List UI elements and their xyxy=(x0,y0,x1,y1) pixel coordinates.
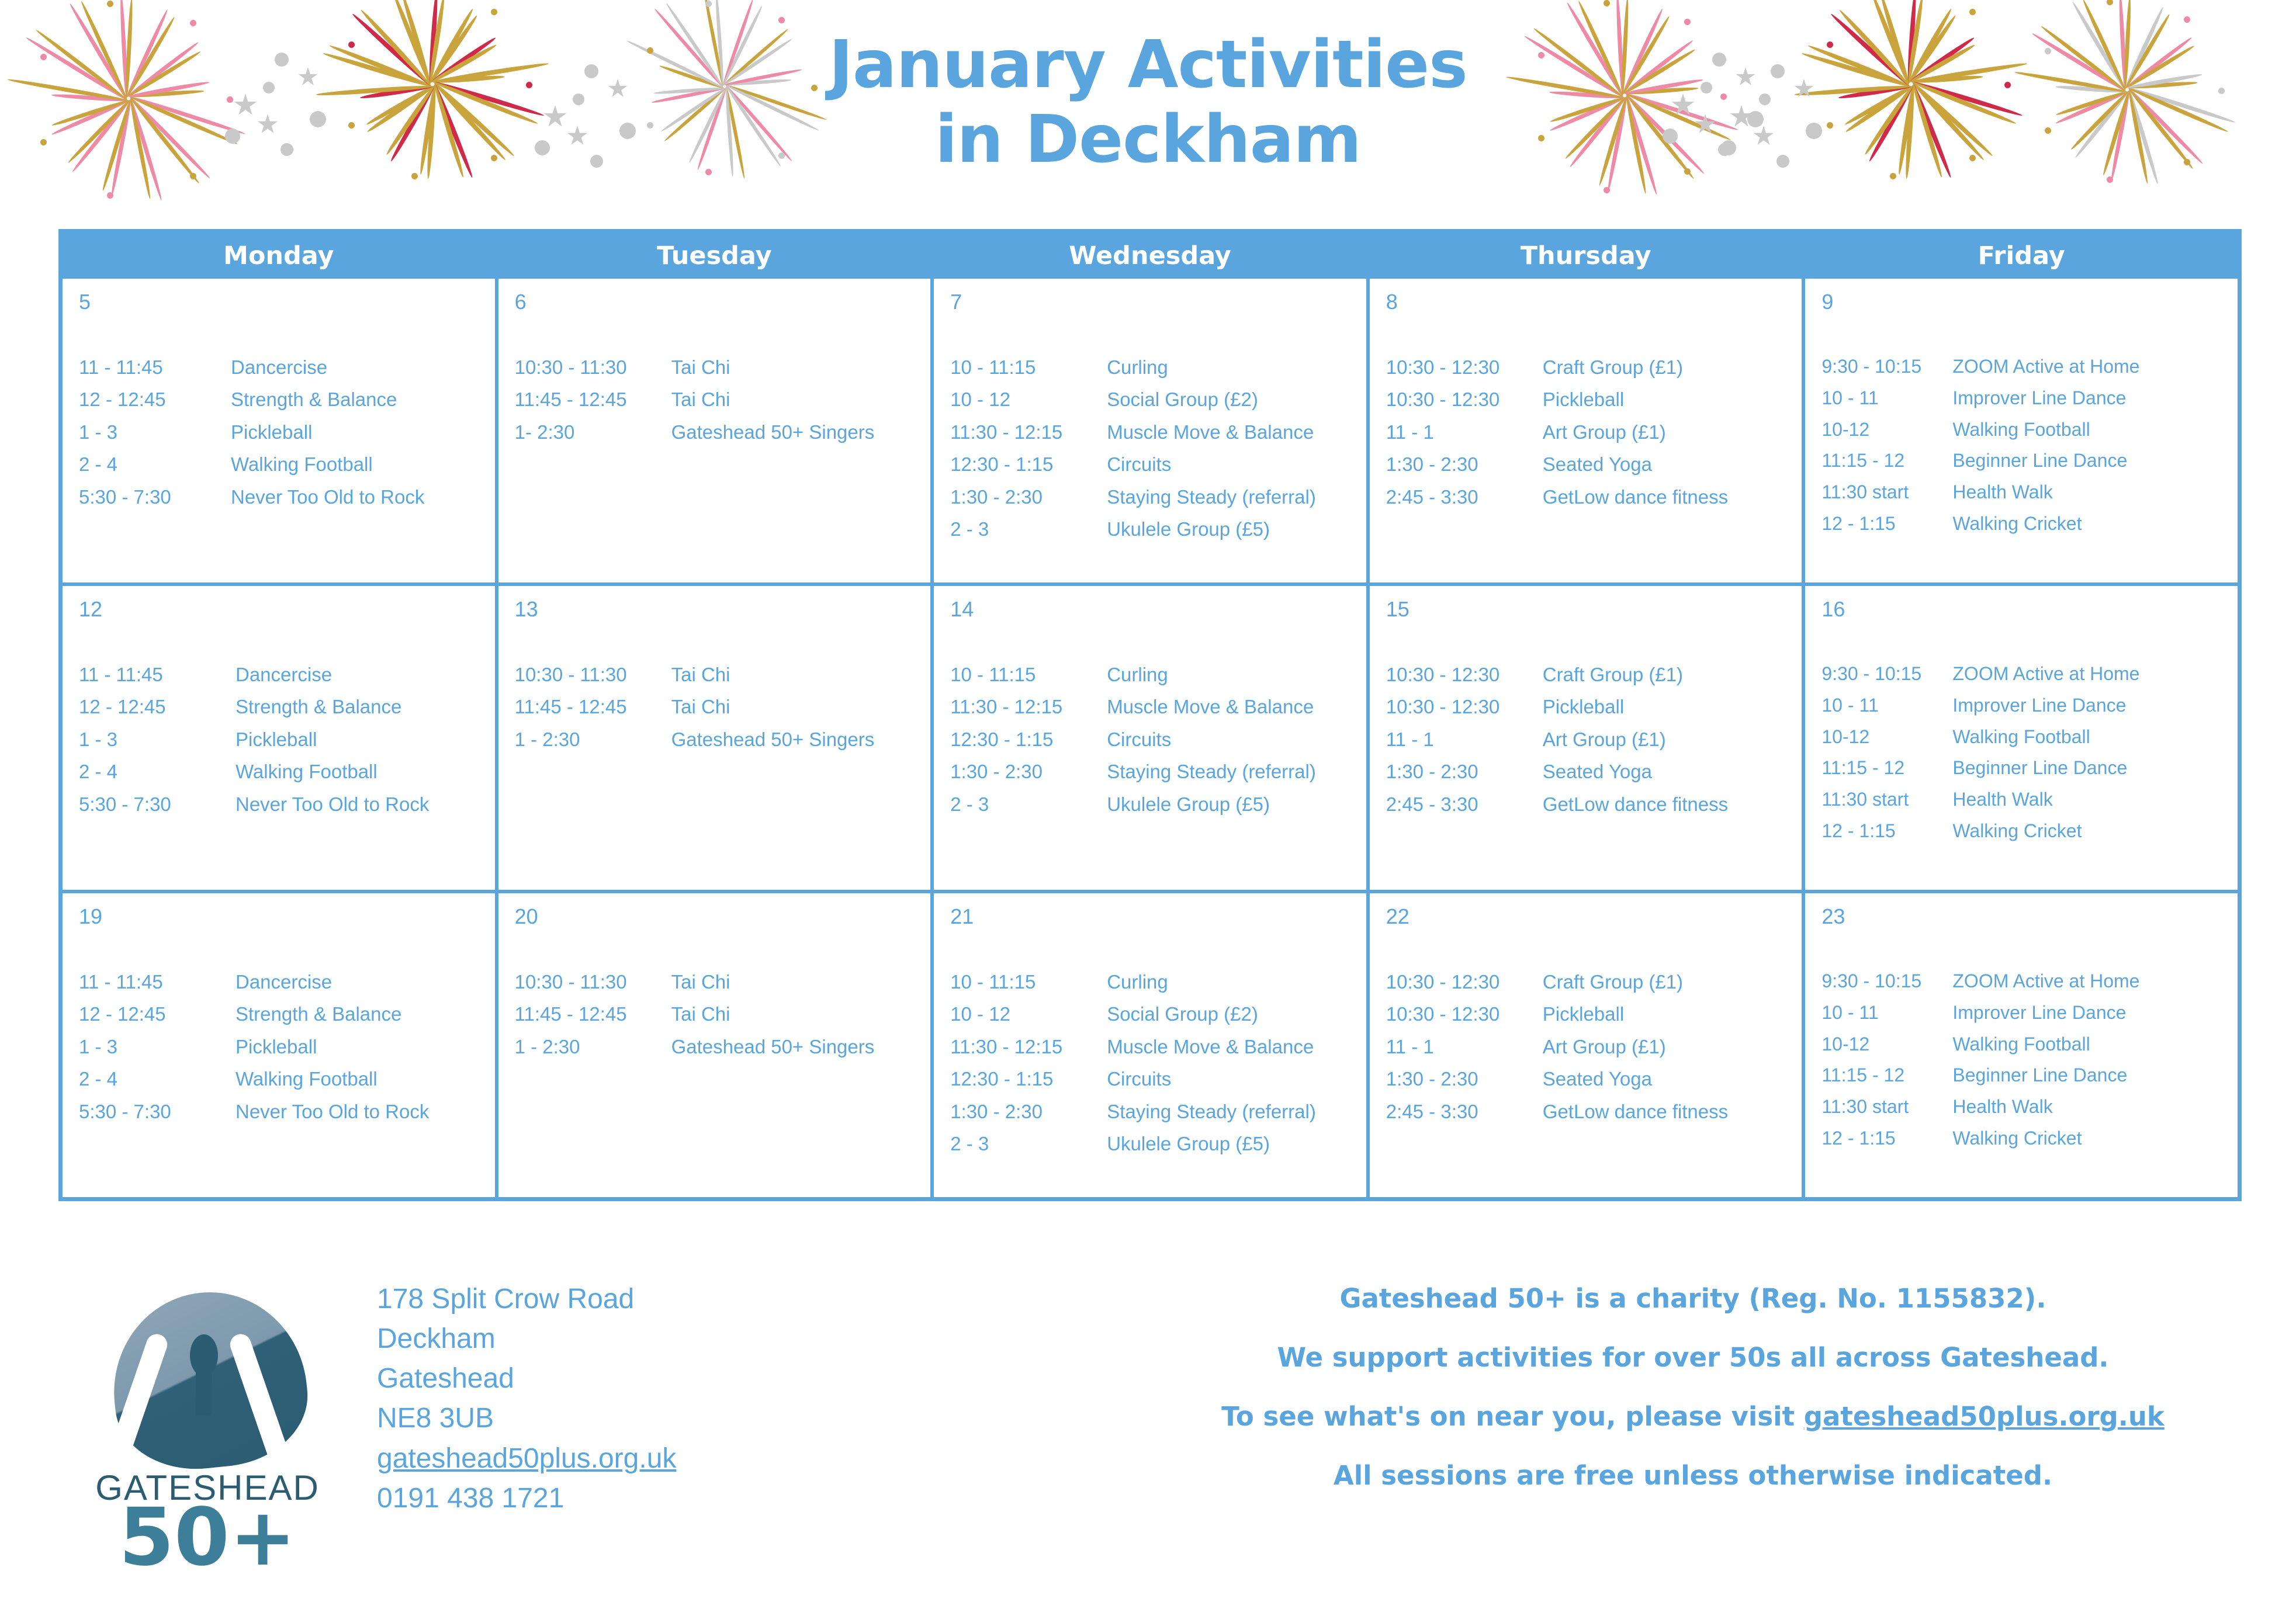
event-time: 10:30 - 11:30 xyxy=(515,658,671,691)
day-cell-16: 169:30 - 10:15ZOOM Active at Home10 - 11… xyxy=(1802,586,2238,890)
event-name: ZOOM Active at Home xyxy=(1952,658,2238,690)
event-name: Strength & Balance xyxy=(236,691,495,723)
event-row: 11:30 startHealth Walk xyxy=(1821,1091,2238,1123)
event-time: 1:30 - 2:30 xyxy=(950,755,1107,788)
day-number: 12 xyxy=(79,599,495,620)
event-name: Craft Group (£1) xyxy=(1543,658,1802,691)
calendar-week-row: 1911 - 11:45Dancercise12 - 12:45Strength… xyxy=(63,890,2238,1197)
event-name: Strength & Balance xyxy=(231,383,495,415)
event-row: 10 - 11Improver Line Dance xyxy=(1821,997,2238,1029)
event-time: 10 - 11:15 xyxy=(950,966,1107,998)
day-number: 7 xyxy=(950,292,1366,313)
firework-spark xyxy=(705,1,712,7)
event-time: 2 - 3 xyxy=(950,513,1107,545)
firework-spark xyxy=(1969,9,1976,15)
day-number: 23 xyxy=(1821,906,2238,927)
event-time: 1:30 - 2:30 xyxy=(1386,755,1543,788)
event-name: Walking Football xyxy=(236,755,495,788)
event-time: 11:15 - 12 xyxy=(1821,445,1952,477)
event-row: 10 - 11Improver Line Dance xyxy=(1821,690,2238,722)
event-row: 11:45 - 12:45Tai Chi xyxy=(515,998,931,1030)
event-time: 12 - 1:15 xyxy=(1821,1123,1952,1154)
event-name: Craft Group (£1) xyxy=(1543,966,1802,998)
event-time: 11:15 - 12 xyxy=(1821,752,1952,784)
day-cell-20: 2010:30 - 11:30Tai Chi11:45 - 12:45Tai C… xyxy=(495,893,931,1197)
event-name: Beginner Line Dance xyxy=(1952,445,2238,477)
event-time: 12:30 - 1:15 xyxy=(950,448,1107,480)
event-row: 1 - 2:30Gateshead 50+ Singers xyxy=(515,723,931,755)
event-row: 11:45 - 12:45Tai Chi xyxy=(515,383,931,415)
event-name: Walking Football xyxy=(1952,1029,2238,1060)
event-time: 12 - 12:45 xyxy=(79,998,236,1030)
event-time: 10:30 - 11:30 xyxy=(515,351,671,383)
day-cell-9: 99:30 - 10:15ZOOM Active at Home10 - 11I… xyxy=(1802,279,2238,582)
firework-spark xyxy=(1604,0,1610,6)
day-cell-22: 2210:30 - 12:30Craft Group (£1)10:30 - 1… xyxy=(1366,893,1802,1197)
page-title-line1: January Activities xyxy=(0,28,2296,103)
website-link[interactable]: gateshead50plus.org.uk xyxy=(377,1439,676,1479)
event-time: 10 - 12 xyxy=(950,383,1107,415)
event-name: Ukulele Group (£5) xyxy=(1107,1128,1366,1160)
event-name: Staying Steady (referral) xyxy=(1107,1095,1366,1128)
event-time: 11 - 1 xyxy=(1386,723,1543,755)
event-row: 2 - 3Ukulele Group (£5) xyxy=(950,788,1366,820)
event-list: 10:30 - 11:30Tai Chi11:45 - 12:45Tai Chi… xyxy=(515,966,931,1063)
charity-visit-prefix: To see what's on near you, please visit xyxy=(1221,1401,1804,1432)
event-row: 2 - 4Walking Football xyxy=(79,448,495,480)
address-area: Deckham xyxy=(377,1319,676,1359)
event-time: 11:30 - 12:15 xyxy=(950,416,1107,448)
event-time: 9:30 - 10:15 xyxy=(1821,966,1952,997)
event-time: 11:30 - 12:15 xyxy=(950,1031,1107,1063)
event-row: 9:30 - 10:15ZOOM Active at Home xyxy=(1821,351,2238,383)
event-time: 1:30 - 2:30 xyxy=(1386,1063,1543,1095)
event-name: Tai Chi xyxy=(671,998,931,1030)
event-time: 10 - 11 xyxy=(1821,997,1952,1029)
event-row: 11 - 11:45Dancercise xyxy=(79,966,495,998)
event-row: 12 - 1:15Walking Cricket xyxy=(1821,1123,2238,1154)
event-time: 11 - 11:45 xyxy=(79,351,231,383)
firework-spark xyxy=(107,192,113,199)
day-header-wednesday: Wednesday xyxy=(930,233,1366,279)
event-time: 11:15 - 12 xyxy=(1821,1060,1952,1091)
event-name: Improver Line Dance xyxy=(1952,383,2238,414)
event-row: 9:30 - 10:15ZOOM Active at Home xyxy=(1821,966,2238,997)
day-number: 13 xyxy=(515,599,931,620)
event-row: 12:30 - 1:15Circuits xyxy=(950,723,1366,755)
event-row: 11 - 1Art Group (£1) xyxy=(1386,416,1802,448)
page-title: January Activities in Deckham xyxy=(0,28,2296,177)
day-cell-23: 239:30 - 10:15ZOOM Active at Home10 - 11… xyxy=(1802,893,2238,1197)
event-time: 2 - 3 xyxy=(950,1128,1107,1160)
event-time: 1 - 2:30 xyxy=(515,723,671,755)
event-time: 1 - 3 xyxy=(79,1031,236,1063)
event-name: Gateshead 50+ Singers xyxy=(671,1031,931,1063)
event-time: 1 - 3 xyxy=(79,723,236,755)
day-cell-7: 710 - 11:15Curling10 - 12Social Group (£… xyxy=(930,279,1366,582)
event-time: 11:45 - 12:45 xyxy=(515,383,671,415)
event-name: Walking Football xyxy=(236,1063,495,1095)
event-row: 1:30 - 2:30Seated Yoga xyxy=(1386,755,1802,788)
event-row: 1 - 2:30Gateshead 50+ Singers xyxy=(515,1031,931,1063)
event-name: Health Walk xyxy=(1952,784,2238,816)
day-number: 15 xyxy=(1386,599,1802,620)
event-time: 5:30 - 7:30 xyxy=(79,1095,236,1128)
day-header-tuesday: Tuesday xyxy=(495,233,931,279)
event-row: 11:30 - 12:15Muscle Move & Balance xyxy=(950,691,1366,723)
event-list: 9:30 - 10:15ZOOM Active at Home10 - 11Im… xyxy=(1821,966,2238,1154)
event-list: 11 - 11:45Dancercise12 - 12:45Strength &… xyxy=(79,658,495,820)
event-name: Circuits xyxy=(1107,723,1366,755)
event-name: Strength & Balance xyxy=(236,998,495,1030)
day-cell-5: 511 - 11:45Dancercise12 - 12:45Strength … xyxy=(63,279,495,582)
event-row: 11:30 startHealth Walk xyxy=(1821,784,2238,816)
event-time: 9:30 - 10:15 xyxy=(1821,351,1952,383)
event-name: Pickleball xyxy=(1543,383,1802,415)
firework-spark xyxy=(2107,0,2113,5)
event-name: Beginner Line Dance xyxy=(1952,1060,2238,1091)
contact-address: 178 Split Crow Road Deckham Gateshead NE… xyxy=(377,1279,676,1518)
event-time: 11 - 1 xyxy=(1386,1031,1543,1063)
event-name: Pickleball xyxy=(236,723,495,755)
firework-spark xyxy=(778,17,785,23)
event-name: ZOOM Active at Home xyxy=(1952,966,2238,997)
day-cell-14: 1410 - 11:15Curling11:30 - 12:15Muscle M… xyxy=(930,586,1366,890)
event-name: Art Group (£1) xyxy=(1543,416,1802,448)
firework-spark xyxy=(2184,16,2190,23)
event-name: Circuits xyxy=(1107,1063,1366,1095)
event-time: 10 - 12 xyxy=(950,998,1107,1030)
day-cell-19: 1911 - 11:45Dancercise12 - 12:45Strength… xyxy=(63,893,495,1197)
event-row: 11:30 - 12:15Muscle Move & Balance xyxy=(950,1031,1366,1063)
event-row: 12 - 12:45Strength & Balance xyxy=(79,691,495,723)
event-name: Never Too Old to Rock xyxy=(231,481,495,513)
event-time: 12 - 1:15 xyxy=(1821,816,1952,847)
event-row: 11 - 1Art Group (£1) xyxy=(1386,1031,1802,1063)
event-name: Walking Football xyxy=(1952,722,2238,753)
event-name: Dancercise xyxy=(236,658,495,691)
event-row: 10 - 12Social Group (£2) xyxy=(950,998,1366,1030)
event-time: 11 - 1 xyxy=(1386,416,1543,448)
address-street: 178 Split Crow Road xyxy=(377,1279,676,1319)
event-list: 10:30 - 12:30Craft Group (£1)10:30 - 12:… xyxy=(1386,351,1802,513)
event-name: Walking Football xyxy=(231,448,495,480)
event-row: 12 - 12:45Strength & Balance xyxy=(79,383,495,415)
event-name: Health Walk xyxy=(1952,1091,2238,1123)
event-list: 10:30 - 11:30Tai Chi11:45 - 12:45Tai Chi… xyxy=(515,658,931,755)
day-number: 21 xyxy=(950,906,1366,927)
event-row: 10:30 - 11:30Tai Chi xyxy=(515,658,931,691)
event-name: Staying Steady (referral) xyxy=(1107,481,1366,513)
event-name: Muscle Move & Balance xyxy=(1107,1031,1366,1063)
day-cell-8: 810:30 - 12:30Craft Group (£1)10:30 - 12… xyxy=(1366,279,1802,582)
firework-spark xyxy=(491,9,497,15)
day-number: 22 xyxy=(1386,906,1802,927)
event-time: 1 - 2:30 xyxy=(515,1031,671,1063)
day-cell-21: 2110 - 11:15Curling10 - 12Social Group (… xyxy=(930,893,1366,1197)
event-row: 10-12Walking Football xyxy=(1821,414,2238,446)
event-name: Never Too Old to Rock xyxy=(236,1095,495,1128)
event-row: 11:15 - 12Beginner Line Dance xyxy=(1821,752,2238,784)
day-cell-12: 1211 - 11:45Dancercise12 - 12:45Strength… xyxy=(63,586,495,890)
event-time: 10:30 - 12:30 xyxy=(1386,351,1543,383)
event-row: 10 - 11:15Curling xyxy=(950,658,1366,691)
event-name: Tai Chi xyxy=(671,383,931,415)
event-time: 2:45 - 3:30 xyxy=(1386,788,1543,820)
event-row: 1:30 - 2:30Seated Yoga xyxy=(1386,448,1802,480)
event-time: 9:30 - 10:15 xyxy=(1821,658,1952,690)
event-name: Art Group (£1) xyxy=(1543,1031,1802,1063)
event-row: 2 - 3Ukulele Group (£5) xyxy=(950,513,1366,545)
event-name: Walking Football xyxy=(1952,414,2238,446)
event-name: Dancercise xyxy=(236,966,495,998)
event-time: 11:30 start xyxy=(1821,784,1952,816)
event-name: ZOOM Active at Home xyxy=(1952,351,2238,383)
event-row: 1:30 - 2:30Seated Yoga xyxy=(1386,1063,1802,1095)
event-name: Curling xyxy=(1107,658,1366,691)
charity-visit-statement: To see what's on near you, please visit … xyxy=(1144,1403,2242,1430)
event-name: Gateshead 50+ Singers xyxy=(671,416,931,448)
event-name: Tai Chi xyxy=(671,658,931,691)
activities-calendar: Monday Tuesday Wednesday Thursday Friday… xyxy=(58,229,2242,1201)
event-row: 10:30 - 12:30Craft Group (£1) xyxy=(1386,966,1802,998)
charity-support-statement: We support activities for over 50s all a… xyxy=(1144,1344,2242,1371)
event-row: 2 - 4Walking Football xyxy=(79,1063,495,1095)
event-time: 2 - 4 xyxy=(79,448,231,480)
event-row: 1 - 3Pickleball xyxy=(79,416,495,448)
event-name: Walking Cricket xyxy=(1952,816,2238,847)
event-name: Beginner Line Dance xyxy=(1952,752,2238,784)
event-list: 9:30 - 10:15ZOOM Active at Home10 - 11Im… xyxy=(1821,658,2238,847)
calendar-week-row: 511 - 11:45Dancercise12 - 12:45Strength … xyxy=(63,279,2238,582)
event-time: 1:30 - 2:30 xyxy=(950,1095,1107,1128)
event-time: 10:30 - 12:30 xyxy=(1386,691,1543,723)
event-row: 1 - 3Pickleball xyxy=(79,723,495,755)
event-time: 2:45 - 3:30 xyxy=(1386,1095,1543,1128)
event-row: 5:30 - 7:30Never Too Old to Rock xyxy=(79,788,495,820)
event-name: Improver Line Dance xyxy=(1952,690,2238,722)
event-row: 11:15 - 12Beginner Line Dance xyxy=(1821,445,2238,477)
event-row: 11 - 11:45Dancercise xyxy=(79,658,495,691)
event-time: 10 - 11 xyxy=(1821,690,1952,722)
day-number: 19 xyxy=(79,906,495,927)
event-list: 11 - 11:45Dancercise12 - 12:45Strength &… xyxy=(79,351,495,513)
event-row: 2 - 4Walking Football xyxy=(79,755,495,788)
day-header-monday: Monday xyxy=(63,233,495,279)
event-row: 1 - 3Pickleball xyxy=(79,1031,495,1063)
calendar-header-row: Monday Tuesday Wednesday Thursday Friday xyxy=(63,233,2238,279)
event-name: GetLow dance fitness xyxy=(1543,481,1802,513)
gateshead-50plus-logo: GATESHEAD 50+ xyxy=(91,1292,324,1573)
event-name: Pickleball xyxy=(1543,691,1802,723)
event-row: 10:30 - 12:30Pickleball xyxy=(1386,998,1802,1030)
event-time: 2 - 4 xyxy=(79,1063,236,1095)
event-name: Dancercise xyxy=(231,351,495,383)
event-time: 10:30 - 11:30 xyxy=(515,966,671,998)
event-row: 11:15 - 12Beginner Line Dance xyxy=(1821,1060,2238,1091)
event-row: 10:30 - 11:30Tai Chi xyxy=(515,966,931,998)
calendar-weeks: 511 - 11:45Dancercise12 - 12:45Strength … xyxy=(63,279,2238,1197)
firework-spark xyxy=(190,20,196,26)
event-name: Seated Yoga xyxy=(1543,755,1802,788)
event-list: 10 - 11:15Curling10 - 12Social Group (£2… xyxy=(950,351,1366,546)
day-cell-13: 1310:30 - 11:30Tai Chi11:45 - 12:45Tai C… xyxy=(495,586,931,890)
charity-website-link[interactable]: gateshead50plus.org.uk xyxy=(1804,1401,2165,1432)
event-name: Muscle Move & Balance xyxy=(1107,691,1366,723)
event-name: GetLow dance fitness xyxy=(1543,788,1802,820)
event-name: Tai Chi xyxy=(671,966,931,998)
day-number: 14 xyxy=(950,599,1366,620)
event-time: 1:30 - 2:30 xyxy=(1386,448,1543,480)
event-time: 2 - 4 xyxy=(79,755,236,788)
event-name: Pickleball xyxy=(236,1031,495,1063)
event-time: 10 - 11 xyxy=(1821,383,1952,414)
firework-spark xyxy=(1684,19,1691,25)
calendar-week-row: 1211 - 11:45Dancercise12 - 12:45Strength… xyxy=(63,582,2238,890)
event-time: 10 - 11:15 xyxy=(950,658,1107,691)
event-name: Improver Line Dance xyxy=(1952,997,2238,1029)
day-header-friday: Friday xyxy=(1802,233,2238,279)
page-title-line2: in Deckham xyxy=(0,103,2296,178)
event-name: Seated Yoga xyxy=(1543,448,1802,480)
event-time: 5:30 - 7:30 xyxy=(79,481,231,513)
event-name: Curling xyxy=(1107,966,1366,998)
event-time: 12:30 - 1:15 xyxy=(950,1063,1107,1095)
event-row: 9:30 - 10:15ZOOM Active at Home xyxy=(1821,658,2238,690)
event-time: 12 - 1:15 xyxy=(1821,508,1952,540)
event-name: Craft Group (£1) xyxy=(1543,351,1802,383)
day-number: 5 xyxy=(79,292,495,313)
event-row: 2:45 - 3:30GetLow dance fitness xyxy=(1386,788,1802,820)
event-row: 11 - 11:45Dancercise xyxy=(79,351,495,383)
event-name: Social Group (£2) xyxy=(1107,383,1366,415)
event-time: 11:45 - 12:45 xyxy=(515,691,671,723)
event-row: 10:30 - 12:30Craft Group (£1) xyxy=(1386,658,1802,691)
event-row: 5:30 - 7:30Never Too Old to Rock xyxy=(79,481,495,513)
event-name: Walking Cricket xyxy=(1952,1123,2238,1154)
event-row: 11:45 - 12:45Tai Chi xyxy=(515,691,931,723)
event-row: 1- 2:30Gateshead 50+ Singers xyxy=(515,416,931,448)
event-name: Circuits xyxy=(1107,448,1366,480)
event-list: 10 - 11:15Curling10 - 12Social Group (£2… xyxy=(950,966,1366,1160)
day-number: 8 xyxy=(1386,292,1802,313)
event-list: 10:30 - 12:30Craft Group (£1)10:30 - 12:… xyxy=(1386,966,1802,1128)
event-name: Art Group (£1) xyxy=(1543,723,1802,755)
event-name: Ukulele Group (£5) xyxy=(1107,513,1366,545)
event-list: 10 - 11:15Curling11:30 - 12:15Muscle Mov… xyxy=(950,658,1366,820)
event-name: Social Group (£2) xyxy=(1107,998,1366,1030)
event-row: 5:30 - 7:30Never Too Old to Rock xyxy=(79,1095,495,1128)
event-time: 10-12 xyxy=(1821,1029,1952,1060)
event-name: Never Too Old to Rock xyxy=(236,788,495,820)
event-list: 10:30 - 11:30Tai Chi11:45 - 12:45Tai Chi… xyxy=(515,351,931,448)
logo-number: 50+ xyxy=(91,1498,324,1577)
event-time: 11:30 start xyxy=(1821,477,1952,508)
event-row: 2 - 3Ukulele Group (£5) xyxy=(950,1128,1366,1160)
event-time: 11 - 11:45 xyxy=(79,658,236,691)
event-row: 10-12Walking Football xyxy=(1821,1029,2238,1060)
day-header-thursday: Thursday xyxy=(1366,233,1802,279)
event-name: Ukulele Group (£5) xyxy=(1107,788,1366,820)
address-city: Gateshead xyxy=(377,1359,676,1399)
event-time: 1:30 - 2:30 xyxy=(950,481,1107,513)
event-name: GetLow dance fitness xyxy=(1543,1095,1802,1128)
day-number: 20 xyxy=(515,906,931,927)
event-time: 12 - 12:45 xyxy=(79,691,236,723)
day-cell-6: 610:30 - 11:30Tai Chi11:45 - 12:45Tai Ch… xyxy=(495,279,931,582)
firework-spark xyxy=(2107,176,2113,183)
event-name: Pickleball xyxy=(1543,998,1802,1030)
day-number: 6 xyxy=(515,292,931,313)
day-number: 16 xyxy=(1821,599,2238,620)
event-row: 12:30 - 1:15Circuits xyxy=(950,448,1366,480)
day-cell-15: 1510:30 - 12:30Craft Group (£1)10:30 - 1… xyxy=(1366,586,1802,890)
event-row: 11:30 - 12:15Muscle Move & Balance xyxy=(950,416,1366,448)
event-time: 11:30 - 12:15 xyxy=(950,691,1107,723)
event-row: 1:30 - 2:30Staying Steady (referral) xyxy=(950,1095,1366,1128)
firework-spark xyxy=(1604,187,1610,193)
event-row: 10 - 11:15Curling xyxy=(950,351,1366,383)
event-row: 12 - 1:15Walking Cricket xyxy=(1821,508,2238,540)
event-time: 2 - 3 xyxy=(950,788,1107,820)
event-name: Curling xyxy=(1107,351,1366,383)
event-row: 1:30 - 2:30Staying Steady (referral) xyxy=(950,481,1366,513)
event-row: 12:30 - 1:15Circuits xyxy=(950,1063,1366,1095)
day-number: 9 xyxy=(1821,292,2238,313)
event-list: 9:30 - 10:15ZOOM Active at Home10 - 11Im… xyxy=(1821,351,2238,540)
event-row: 10:30 - 11:30Tai Chi xyxy=(515,351,931,383)
event-row: 2:45 - 3:30GetLow dance fitness xyxy=(1386,481,1802,513)
charity-free-sessions-note: All sessions are free unless otherwise i… xyxy=(1144,1462,2242,1489)
event-time: 10:30 - 12:30 xyxy=(1386,383,1543,415)
event-name: Walking Cricket xyxy=(1952,508,2238,540)
event-time: 1 - 3 xyxy=(79,416,231,448)
event-time: 11 - 11:45 xyxy=(79,966,236,998)
event-time: 12:30 - 1:15 xyxy=(950,723,1107,755)
event-row: 10 - 11:15Curling xyxy=(950,966,1366,998)
event-time: 11:30 start xyxy=(1821,1091,1952,1123)
event-row: 11 - 1Art Group (£1) xyxy=(1386,723,1802,755)
event-time: 10:30 - 12:30 xyxy=(1386,966,1543,998)
event-name: Seated Yoga xyxy=(1543,1063,1802,1095)
event-name: Gateshead 50+ Singers xyxy=(671,723,931,755)
event-time: 10:30 - 12:30 xyxy=(1386,998,1543,1030)
event-time: 10-12 xyxy=(1821,414,1952,446)
firework-spark xyxy=(107,1,113,7)
logo-figure-body xyxy=(196,1362,212,1415)
event-name: Pickleball xyxy=(231,416,495,448)
event-name: Tai Chi xyxy=(671,351,931,383)
event-row: 2:45 - 3:30GetLow dance fitness xyxy=(1386,1095,1802,1128)
event-time: 10-12 xyxy=(1821,722,1952,753)
event-row: 10 - 11Improver Line Dance xyxy=(1821,383,2238,414)
event-row: 12 - 1:15Walking Cricket xyxy=(1821,816,2238,847)
event-row: 10 - 12Social Group (£2) xyxy=(950,383,1366,415)
event-row: 10:30 - 12:30Pickleball xyxy=(1386,383,1802,415)
event-time: 2:45 - 3:30 xyxy=(1386,481,1543,513)
event-row: 11:30 startHealth Walk xyxy=(1821,477,2238,508)
event-list: 10:30 - 12:30Craft Group (£1)10:30 - 12:… xyxy=(1386,658,1802,820)
event-time: 10 - 11:15 xyxy=(950,351,1107,383)
event-time: 12 - 12:45 xyxy=(79,383,231,415)
event-time: 10:30 - 12:30 xyxy=(1386,658,1543,691)
event-name: Staying Steady (referral) xyxy=(1107,755,1366,788)
page-footer: GATESHEAD 50+ 178 Split Crow Road Deckha… xyxy=(0,1250,2296,1623)
event-name: Muscle Move & Balance xyxy=(1107,416,1366,448)
event-time: 1- 2:30 xyxy=(515,416,671,448)
phone-number[interactable]: 0191 438 1721 xyxy=(377,1479,676,1518)
event-time: 5:30 - 7:30 xyxy=(79,788,236,820)
